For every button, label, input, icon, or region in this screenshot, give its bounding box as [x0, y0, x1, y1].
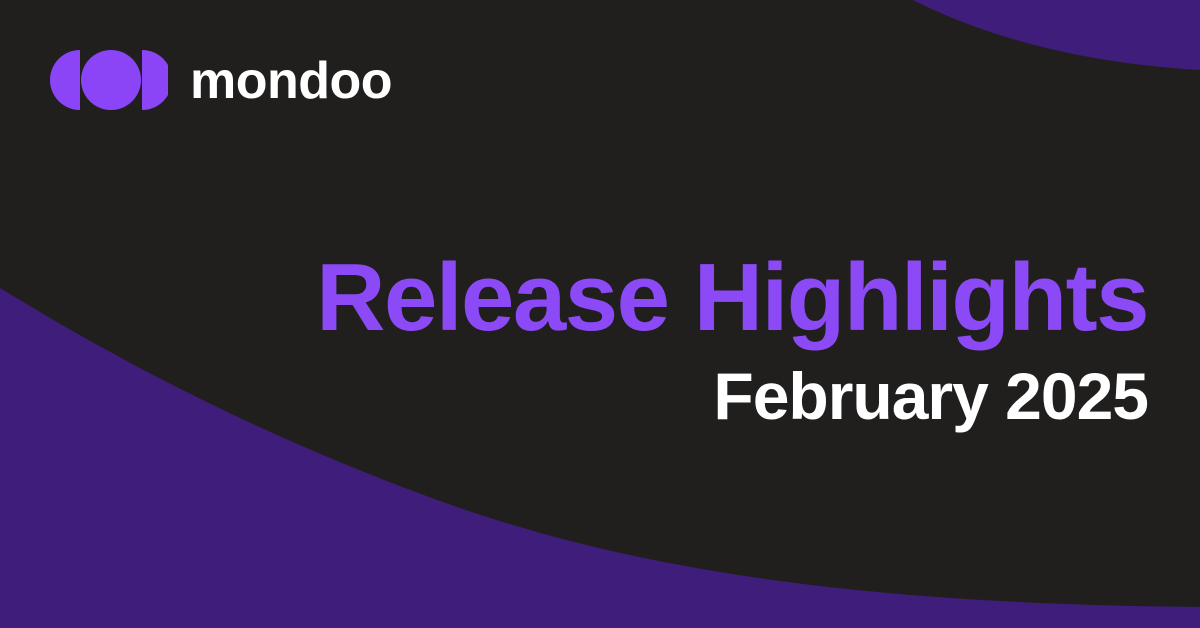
- brand-logo-lockup: mondoo: [50, 50, 392, 110]
- page-title: Release Highlights: [316, 248, 1148, 348]
- logo-center-circle: [81, 50, 141, 110]
- logo-right-half-disc: [142, 50, 168, 110]
- mondoo-wordmark: mondoo: [190, 55, 392, 107]
- headline-block: Release Highlights February 2025: [316, 248, 1148, 431]
- mondoo-logo-mark-icon: [50, 50, 168, 110]
- release-highlights-banner: mondoo Release Highlights February 2025: [0, 0, 1200, 628]
- logo-left-half-disc: [50, 50, 80, 110]
- page-subtitle: February 2025: [316, 362, 1148, 431]
